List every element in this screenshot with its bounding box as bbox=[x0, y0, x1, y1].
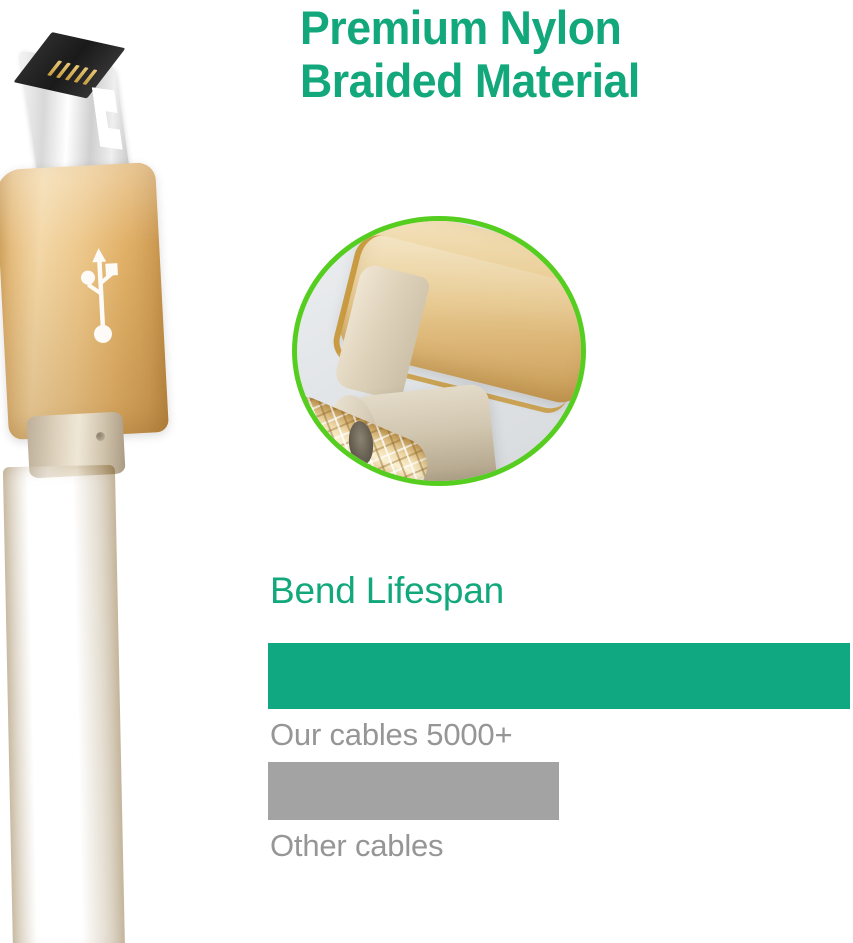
detail-inset-circle bbox=[292, 216, 586, 486]
detail-inset-photo bbox=[297, 221, 581, 481]
usb-trident-icon bbox=[75, 245, 126, 347]
page-title-line-2: Braided Material bbox=[300, 55, 813, 108]
bend-lifespan-chart: Bend Lifespan Our cables 5000+ Other cab… bbox=[268, 572, 853, 873]
bar-our-cables bbox=[268, 643, 850, 709]
page-title: Premium Nylon Braided Material bbox=[300, 2, 813, 107]
chart-title: Bend Lifespan bbox=[270, 572, 853, 609]
bar-other-cables bbox=[268, 762, 559, 820]
chart-row-our-cables: Our cables 5000+ bbox=[268, 643, 853, 750]
collar-dot bbox=[96, 432, 105, 441]
braided-nylon-cable bbox=[3, 465, 125, 943]
bar-label-other-cables: Other cables bbox=[270, 830, 853, 861]
chart-row-other-cables: Other cables bbox=[268, 762, 853, 861]
bar-label-our-cables: Our cables 5000+ bbox=[270, 719, 853, 750]
infographic-page: Premium Nylon Braided Material bbox=[0, 0, 853, 943]
product-photo-cable bbox=[0, 14, 200, 943]
page-title-line-1: Premium Nylon bbox=[300, 2, 813, 55]
